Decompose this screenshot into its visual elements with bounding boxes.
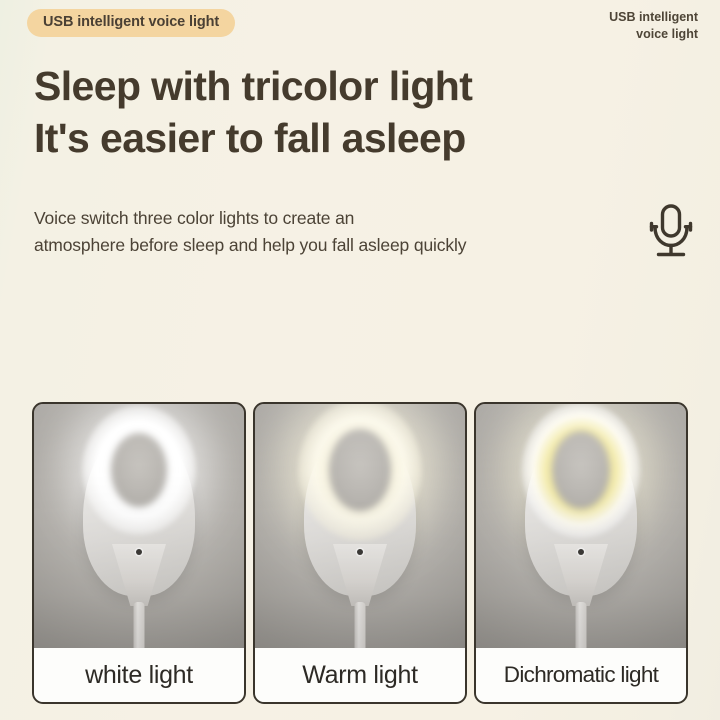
lamp-light-ring [520, 404, 642, 540]
corner-note-line-2: voice light [609, 26, 698, 43]
sensor-dot-icon [578, 549, 584, 555]
product-photo-dichromatic [476, 404, 686, 648]
ring-lamp-warm [284, 426, 436, 648]
sensor-dot-icon [136, 549, 142, 555]
headline-line-1: Sleep with tricolor light [34, 60, 472, 112]
headline-line-2: It's easier to fall asleep [34, 112, 472, 164]
light-mode-panel-warm[interactable]: Warm light [253, 402, 467, 704]
sensor-dot-icon [357, 549, 363, 555]
light-mode-panels: white light Warm light [32, 402, 688, 704]
microphone-icon [644, 202, 698, 260]
ring-lamp-dichromatic [505, 426, 657, 648]
corner-note: USB intelligent voice light [609, 9, 698, 42]
lamp-ring-hole [111, 433, 167, 507]
ring-lamp-white [63, 426, 215, 648]
badge-usb-intelligent-voice-light: USB intelligent voice light [27, 9, 235, 37]
panel-caption-white: white light [34, 648, 244, 702]
light-mode-panel-dichromatic[interactable]: Dichromatic light [474, 402, 688, 704]
subtitle-line-2: atmosphere before sleep and help you fal… [34, 232, 466, 259]
lamp-ring-hole [329, 429, 391, 511]
lamp-stem [134, 602, 145, 648]
corner-note-line-1: USB intelligent [609, 9, 698, 26]
headline: Sleep with tricolor light It's easier to… [34, 60, 472, 164]
product-photo-white [34, 404, 244, 648]
panel-caption-dichromatic: Dichromatic light [476, 648, 686, 702]
subtitle-row: Voice switch three color lights to creat… [34, 202, 698, 262]
lamp-light-ring [80, 404, 198, 537]
product-poster: USB intelligent voice light USB intellig… [0, 0, 720, 720]
product-photo-warm [255, 404, 465, 648]
subtitle: Voice switch three color lights to creat… [34, 205, 466, 258]
light-mode-panel-white[interactable]: white light [32, 402, 246, 704]
subtitle-line-1: Voice switch three color lights to creat… [34, 205, 466, 232]
panel-caption-warm: Warm light [255, 648, 465, 702]
lamp-stem [355, 602, 366, 648]
lamp-ring-hole [552, 431, 610, 509]
lamp-stem [576, 602, 587, 648]
